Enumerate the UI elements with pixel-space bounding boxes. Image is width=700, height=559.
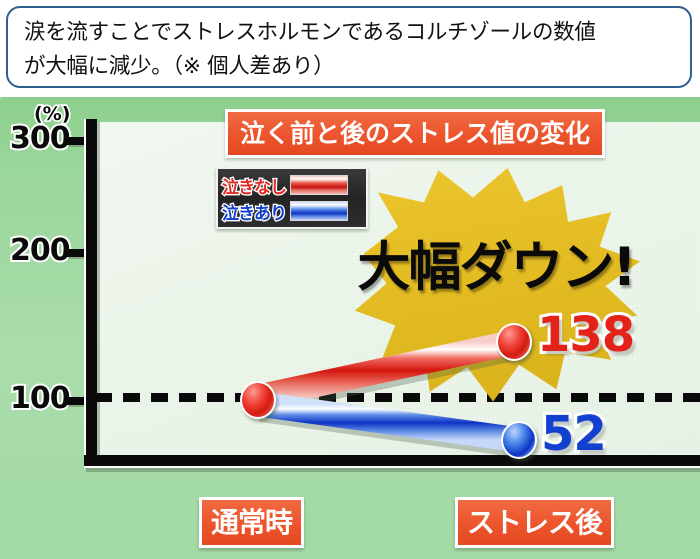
x-axis — [84, 455, 700, 468]
caption-text: 涙を流すことでストレスホルモンであるコルチゾールの数値 が大幅に減少。（※ 個人… — [24, 16, 678, 84]
legend: 泣きなし 泣きあり — [216, 167, 368, 229]
callout-text: 大幅ダウン! — [352, 225, 640, 301]
legend-item-no-cry: 泣きなし — [222, 172, 362, 198]
y-tick-mark-300 — [67, 137, 84, 145]
y-tick-mark-100 — [67, 397, 84, 405]
data-marker-no-cry-end — [496, 323, 532, 361]
y-tick-label-200: 200 — [10, 233, 70, 268]
x-category-label-stress: ストレス後 — [455, 497, 614, 548]
caption-box: 涙を流すことでストレスホルモンであるコルチゾールの数値 が大幅に減少。（※ 個人… — [6, 6, 692, 88]
legend-item-cry: 泣きあり — [222, 198, 362, 224]
screenshot-root: 涙を流すことでストレスホルモンであるコルチゾールの数値 が大幅に減少。（※ 個人… — [0, 0, 700, 559]
value-label-138: 138 — [537, 307, 634, 363]
legend-swatch-cry — [290, 201, 348, 221]
legend-swatch-no-cry — [290, 175, 348, 195]
legend-label-cry: 泣きあり — [222, 199, 286, 224]
x-category-label-normal: 通常時 — [199, 497, 304, 548]
y-tick-label-100: 100 — [10, 381, 70, 416]
y-axis — [84, 119, 97, 462]
data-marker-cry-end — [501, 421, 537, 459]
legend-label-no-cry: 泣きなし — [222, 173, 286, 198]
y-tick-label-300: 300 — [10, 121, 70, 156]
data-marker-origin — [240, 381, 276, 419]
chart-title-banner: 泣く前と後のストレス値の変化 — [225, 109, 605, 158]
y-tick-mark-200 — [67, 249, 84, 257]
chart-panel: (%) 300 200 100 泣く前と後のストレス値の変化 泣きなし 泣きあり — [0, 97, 700, 559]
value-label-52: 52 — [541, 406, 606, 462]
reference-line-100 — [95, 393, 700, 402]
